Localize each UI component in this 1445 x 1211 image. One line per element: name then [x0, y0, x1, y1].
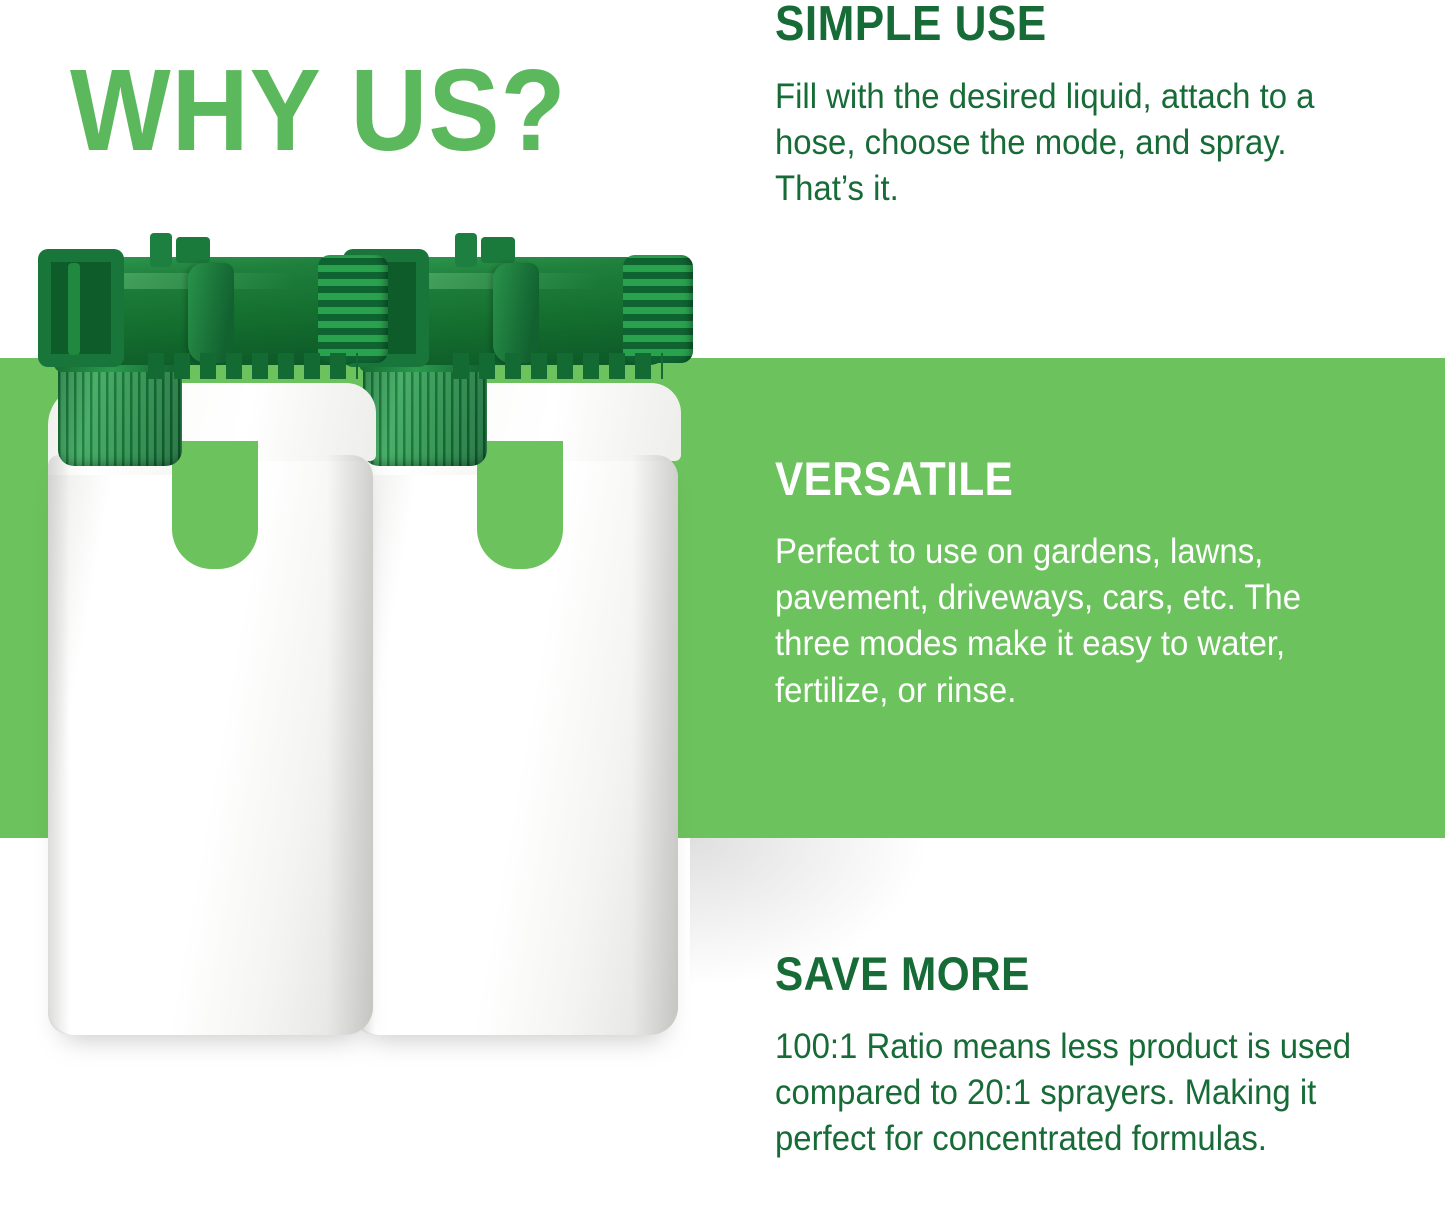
sprayer-clamp-front	[38, 249, 124, 367]
sprayer-skirt-front	[148, 353, 358, 379]
sprayer-stub2-front	[176, 237, 210, 263]
bottle-edge-right-front	[327, 455, 373, 1035]
sprayer-nozzle-dial-front	[318, 255, 388, 363]
feature-simple-use-body: Fill with the desired liquid, attach to …	[775, 74, 1358, 213]
feature-save-more-heading: SAVE MORE	[775, 950, 1333, 998]
feature-save-more-body: 100:1 Ratio means less product is used c…	[775, 1024, 1377, 1163]
feature-versatile: VERSATILE Perfect to use on gardens, law…	[775, 455, 1395, 714]
sprayer-head-back	[343, 233, 693, 383]
feature-versatile-body: Perfect to use on gardens, lawns, paveme…	[775, 529, 1339, 714]
feature-save-more: SAVE MORE 100:1 Ratio means less product…	[775, 950, 1395, 1163]
feature-simple-use-heading: SIMPLE USE	[775, 0, 1333, 50]
sprayer-trigger-back	[493, 263, 539, 363]
bottle-body-front	[48, 455, 373, 1035]
feature-versatile-heading: VERSATILE	[775, 455, 1333, 503]
sprayer-stub2-back	[481, 237, 515, 263]
sprayer-head-front	[38, 233, 388, 383]
bottle-edge-right-back	[632, 455, 678, 1035]
sprayer-clamp-inner-front	[68, 263, 80, 355]
bottle-handle-hole-back	[477, 441, 563, 569]
bottle-edge-left-front	[48, 455, 70, 1035]
product-image	[0, 225, 760, 1125]
sprayer-stub-front	[150, 233, 172, 267]
sprayer-bottle-front	[30, 225, 390, 1105]
page-title: WHY US?	[70, 52, 567, 168]
feature-simple-use: SIMPLE USE Fill with the desired liquid,…	[775, 0, 1395, 213]
sprayer-nozzle-dial-back	[623, 255, 693, 363]
sprayer-skirt-back	[453, 353, 663, 379]
bottle-body-back	[353, 455, 678, 1035]
infographic-page: WHY US?	[0, 0, 1445, 1211]
sprayer-stub-back	[455, 233, 477, 267]
bottle-handle-hole-front	[172, 441, 258, 569]
sprayer-trigger-front	[188, 263, 234, 363]
